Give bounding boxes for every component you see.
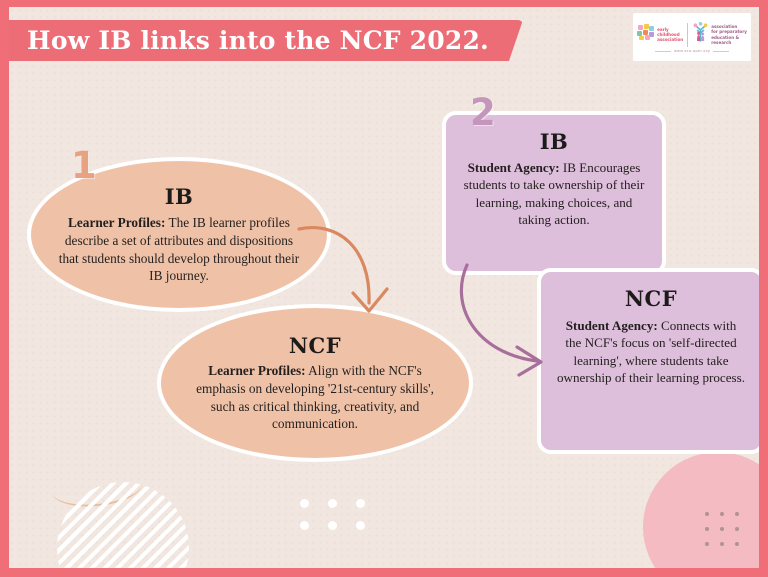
card-group2-ib-title: IB: [540, 129, 569, 154]
logo-eca-line3: association: [657, 37, 683, 42]
card-group2-ib-body: Student Agency: IB Encourages students t…: [462, 159, 646, 229]
logo-tagline: www.eca-aper.org: [655, 49, 729, 53]
card-group1-ncf: NCF Learner Profiles: Align with the NCF…: [157, 304, 473, 462]
card-group1-ncf-body: Learner Profiles: Align with the NCF's e…: [186, 362, 445, 432]
card-group1-ncf-lead: Learner Profiles:: [208, 363, 305, 378]
card-group2-ncf-body: Student Agency: Connects with the NCF's …: [557, 317, 745, 387]
group-2-numeral: 2: [470, 94, 496, 131]
logo-divider: [687, 23, 688, 47]
dot-grid-left-decoration: [290, 492, 374, 536]
card-group1-ncf-title: NCF: [186, 333, 445, 358]
card-group2-ncf-title: NCF: [625, 286, 677, 311]
card-group1-ib-body: Learner Profiles: The IB learner profile…: [55, 214, 304, 284]
card-group1-ib-title: IB: [55, 184, 304, 209]
logo-eca: early childhood association: [637, 24, 683, 46]
flower-blocks-icon: [637, 24, 655, 46]
card-group2-ib: IB Student Agency: IB Encourages student…: [442, 111, 666, 275]
poster-root: How IB links into the NCF 2022.: [0, 0, 768, 577]
card-group2-ncf: NCF Student Agency: Connects with the NC…: [537, 268, 759, 454]
card-group1-ncf-inner: NCF Learner Profiles: Align with the NCF…: [186, 333, 445, 432]
page-title: How IB links into the NCF 2022.: [27, 26, 489, 55]
logo-aper: association for preparatory education & …: [692, 22, 747, 47]
card-group2-ib-lead: Student Agency:: [468, 160, 560, 175]
dot-grid-right-decoration: [699, 506, 745, 552]
poster-canvas: How IB links into the NCF 2022.: [9, 7, 759, 568]
logo-row: early childhood association: [633, 22, 751, 47]
card-group2-ncf-lead: Student Agency:: [566, 318, 658, 333]
card-group1-ib-lead: Learner Profiles:: [68, 215, 165, 230]
group-1-numeral: 1: [71, 147, 97, 184]
header-banner: How IB links into the NCF 2022.: [9, 20, 523, 61]
card-group1-ib-inner: IB Learner Profiles: The IB learner prof…: [55, 184, 304, 284]
tree-people-icon: [692, 22, 709, 47]
logo-aper-text: association for preparatory education & …: [711, 24, 747, 45]
logo-eca-text: early childhood association: [657, 27, 683, 43]
organization-logo: early childhood association: [633, 13, 751, 61]
logo-aper-line4: research: [711, 40, 731, 45]
